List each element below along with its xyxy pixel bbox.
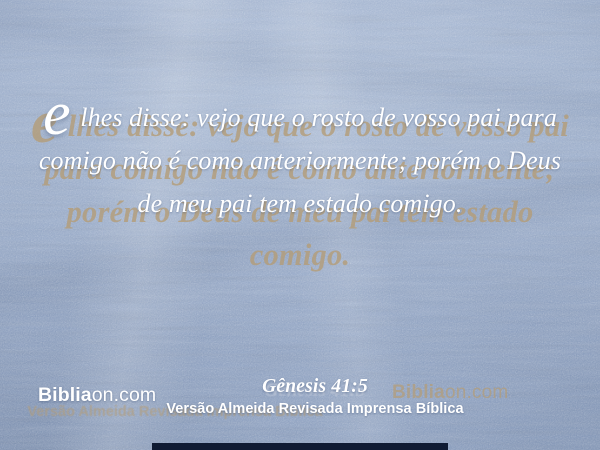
verse-text: e lhes disse: vejo que o rosto de vosso …	[30, 96, 570, 225]
bibliaon-logo[interactable]: Bibliaon.com	[38, 384, 156, 407]
verse-dropcap: e	[43, 80, 74, 148]
bible-version-label: Versão Almeida Revisada Imprensa Bíblica	[150, 401, 480, 417]
verse-body: lhes disse: vejo que o rosto de vosso pa…	[39, 103, 561, 218]
logo-strong-text: Biblia	[38, 384, 92, 406]
bottom-bar	[152, 443, 448, 450]
logo-light-text: on.com	[92, 384, 157, 406]
verse-image-card: e lhes disse: vejo que o rosto de vosso …	[0, 0, 600, 450]
foreground-text-layer: e lhes disse: vejo que o rosto de vosso …	[0, 0, 600, 450]
reference-block: Gênesis 41:5 Versão Almeida Revisada Imp…	[150, 376, 480, 417]
verse-reference: Gênesis 41:5	[150, 376, 480, 398]
